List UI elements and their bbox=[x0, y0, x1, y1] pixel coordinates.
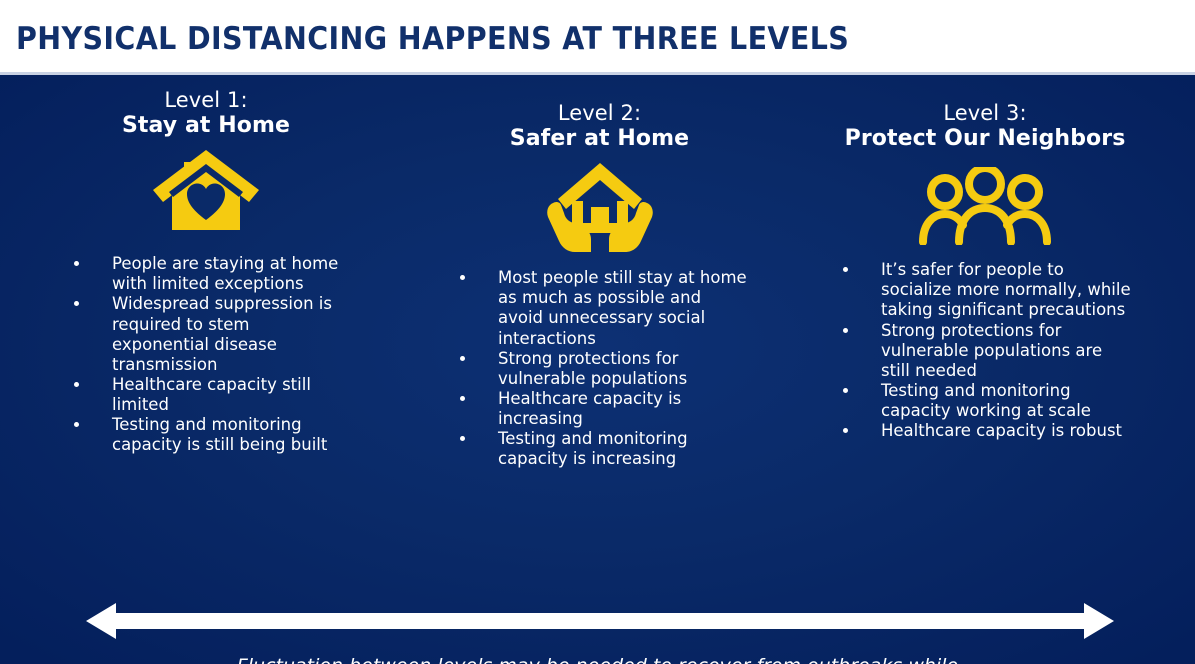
footer-note: Fluctuation between levels may be needed… bbox=[0, 653, 1195, 664]
house-in-hands-icon bbox=[541, 161, 659, 253]
list-item: It’s safer for people to socialize more … bbox=[835, 260, 1135, 320]
bullet-dot bbox=[460, 436, 465, 441]
level-2-label: Level 2: bbox=[452, 102, 747, 126]
list-item: Healthcare capacity is robust bbox=[835, 421, 1135, 441]
bullet-text: Testing and monitoring capacity working … bbox=[881, 381, 1091, 420]
level-column-3: Level 3: Protect Our Neighbors bbox=[835, 102, 1135, 441]
level-2-name: Safer at Home bbox=[452, 127, 747, 152]
bullet-text: Strong protections for vulnerable popula… bbox=[498, 349, 687, 388]
level-1-icon-wrap bbox=[66, 148, 346, 236]
level-1-heading: Level 1: Stay at Home bbox=[66, 89, 346, 138]
list-item: Most people still stay at home as much a… bbox=[452, 268, 747, 349]
bullet-dot bbox=[74, 382, 79, 387]
level-column-1: Level 1: Stay at Home People are stayin bbox=[66, 89, 346, 455]
bullet-text: People are staying at home with limited … bbox=[112, 254, 338, 293]
list-item: People are staying at home with limited … bbox=[66, 254, 346, 294]
bullet-text: Widespread suppression is required to st… bbox=[112, 294, 332, 373]
level-1-bullets: People are staying at home with limited … bbox=[66, 254, 346, 455]
page-title: PHYSICAL DISTANCING HAPPENS AT THREE LEV… bbox=[16, 21, 849, 57]
level-2-icon-wrap bbox=[452, 161, 747, 253]
bullet-dot bbox=[74, 261, 79, 266]
bullet-dot bbox=[460, 275, 465, 280]
bullet-dot bbox=[843, 328, 848, 333]
bullet-text: Testing and monitoring capacity is incre… bbox=[498, 429, 688, 468]
list-item: Widespread suppression is required to st… bbox=[66, 294, 346, 375]
list-item: Testing and monitoring capacity is incre… bbox=[452, 429, 747, 469]
bullet-dot bbox=[843, 267, 848, 272]
level-2-heading: Level 2: Safer at Home bbox=[452, 102, 747, 151]
bullet-dot bbox=[460, 396, 465, 401]
level-2-bullets: Most people still stay at home as much a… bbox=[452, 268, 747, 469]
bullet-dot bbox=[74, 422, 79, 427]
level-3-heading: Level 3: Protect Our Neighbors bbox=[835, 102, 1135, 151]
bullet-text: Healthcare capacity still limited bbox=[112, 375, 311, 414]
slide-body: Level 1: Stay at Home People are stayin bbox=[0, 75, 1195, 664]
bullet-text: Most people still stay at home as much a… bbox=[498, 268, 747, 347]
level-3-name: Protect Our Neighbors bbox=[835, 127, 1135, 152]
bullet-text: Healthcare capacity is robust bbox=[881, 421, 1122, 440]
bullet-text: It’s safer for people to socialize more … bbox=[881, 260, 1131, 319]
level-3-icon-wrap bbox=[835, 167, 1135, 245]
bullet-text: Strong protections for vulnerable popula… bbox=[881, 321, 1102, 380]
list-item: Healthcare capacity still limited bbox=[66, 375, 346, 415]
house-with-heart-icon bbox=[151, 148, 261, 236]
bullet-dot bbox=[460, 356, 465, 361]
bullet-text: Healthcare capacity is increasing bbox=[498, 389, 681, 428]
slide: PHYSICAL DISTANCING HAPPENS AT THREE LEV… bbox=[0, 0, 1195, 664]
bullet-text: Testing and monitoring capacity is still… bbox=[112, 415, 327, 454]
three-people-icon bbox=[919, 167, 1051, 245]
list-item: Testing and monitoring capacity is still… bbox=[66, 415, 346, 455]
level-3-label: Level 3: bbox=[835, 102, 1135, 126]
level-3-bullets: It’s safer for people to socialize more … bbox=[835, 260, 1135, 441]
list-item: Strong protections for vulnerable popula… bbox=[835, 321, 1135, 381]
level-1-label: Level 1: bbox=[66, 89, 346, 113]
bullet-dot bbox=[843, 428, 848, 433]
level-1-name: Stay at Home bbox=[66, 114, 346, 139]
footer-line-1: Fluctuation between levels may be needed… bbox=[0, 653, 1195, 664]
double-headed-arrow bbox=[86, 600, 1114, 642]
list-item: Healthcare capacity is increasing bbox=[452, 389, 747, 429]
bullet-dot bbox=[843, 388, 848, 393]
bullet-dot bbox=[74, 301, 79, 306]
list-item: Testing and monitoring capacity working … bbox=[835, 381, 1135, 421]
level-column-2: Level 2: Safer at Home Most bbox=[452, 102, 747, 469]
list-item: Strong protections for vulnerable popula… bbox=[452, 349, 747, 389]
